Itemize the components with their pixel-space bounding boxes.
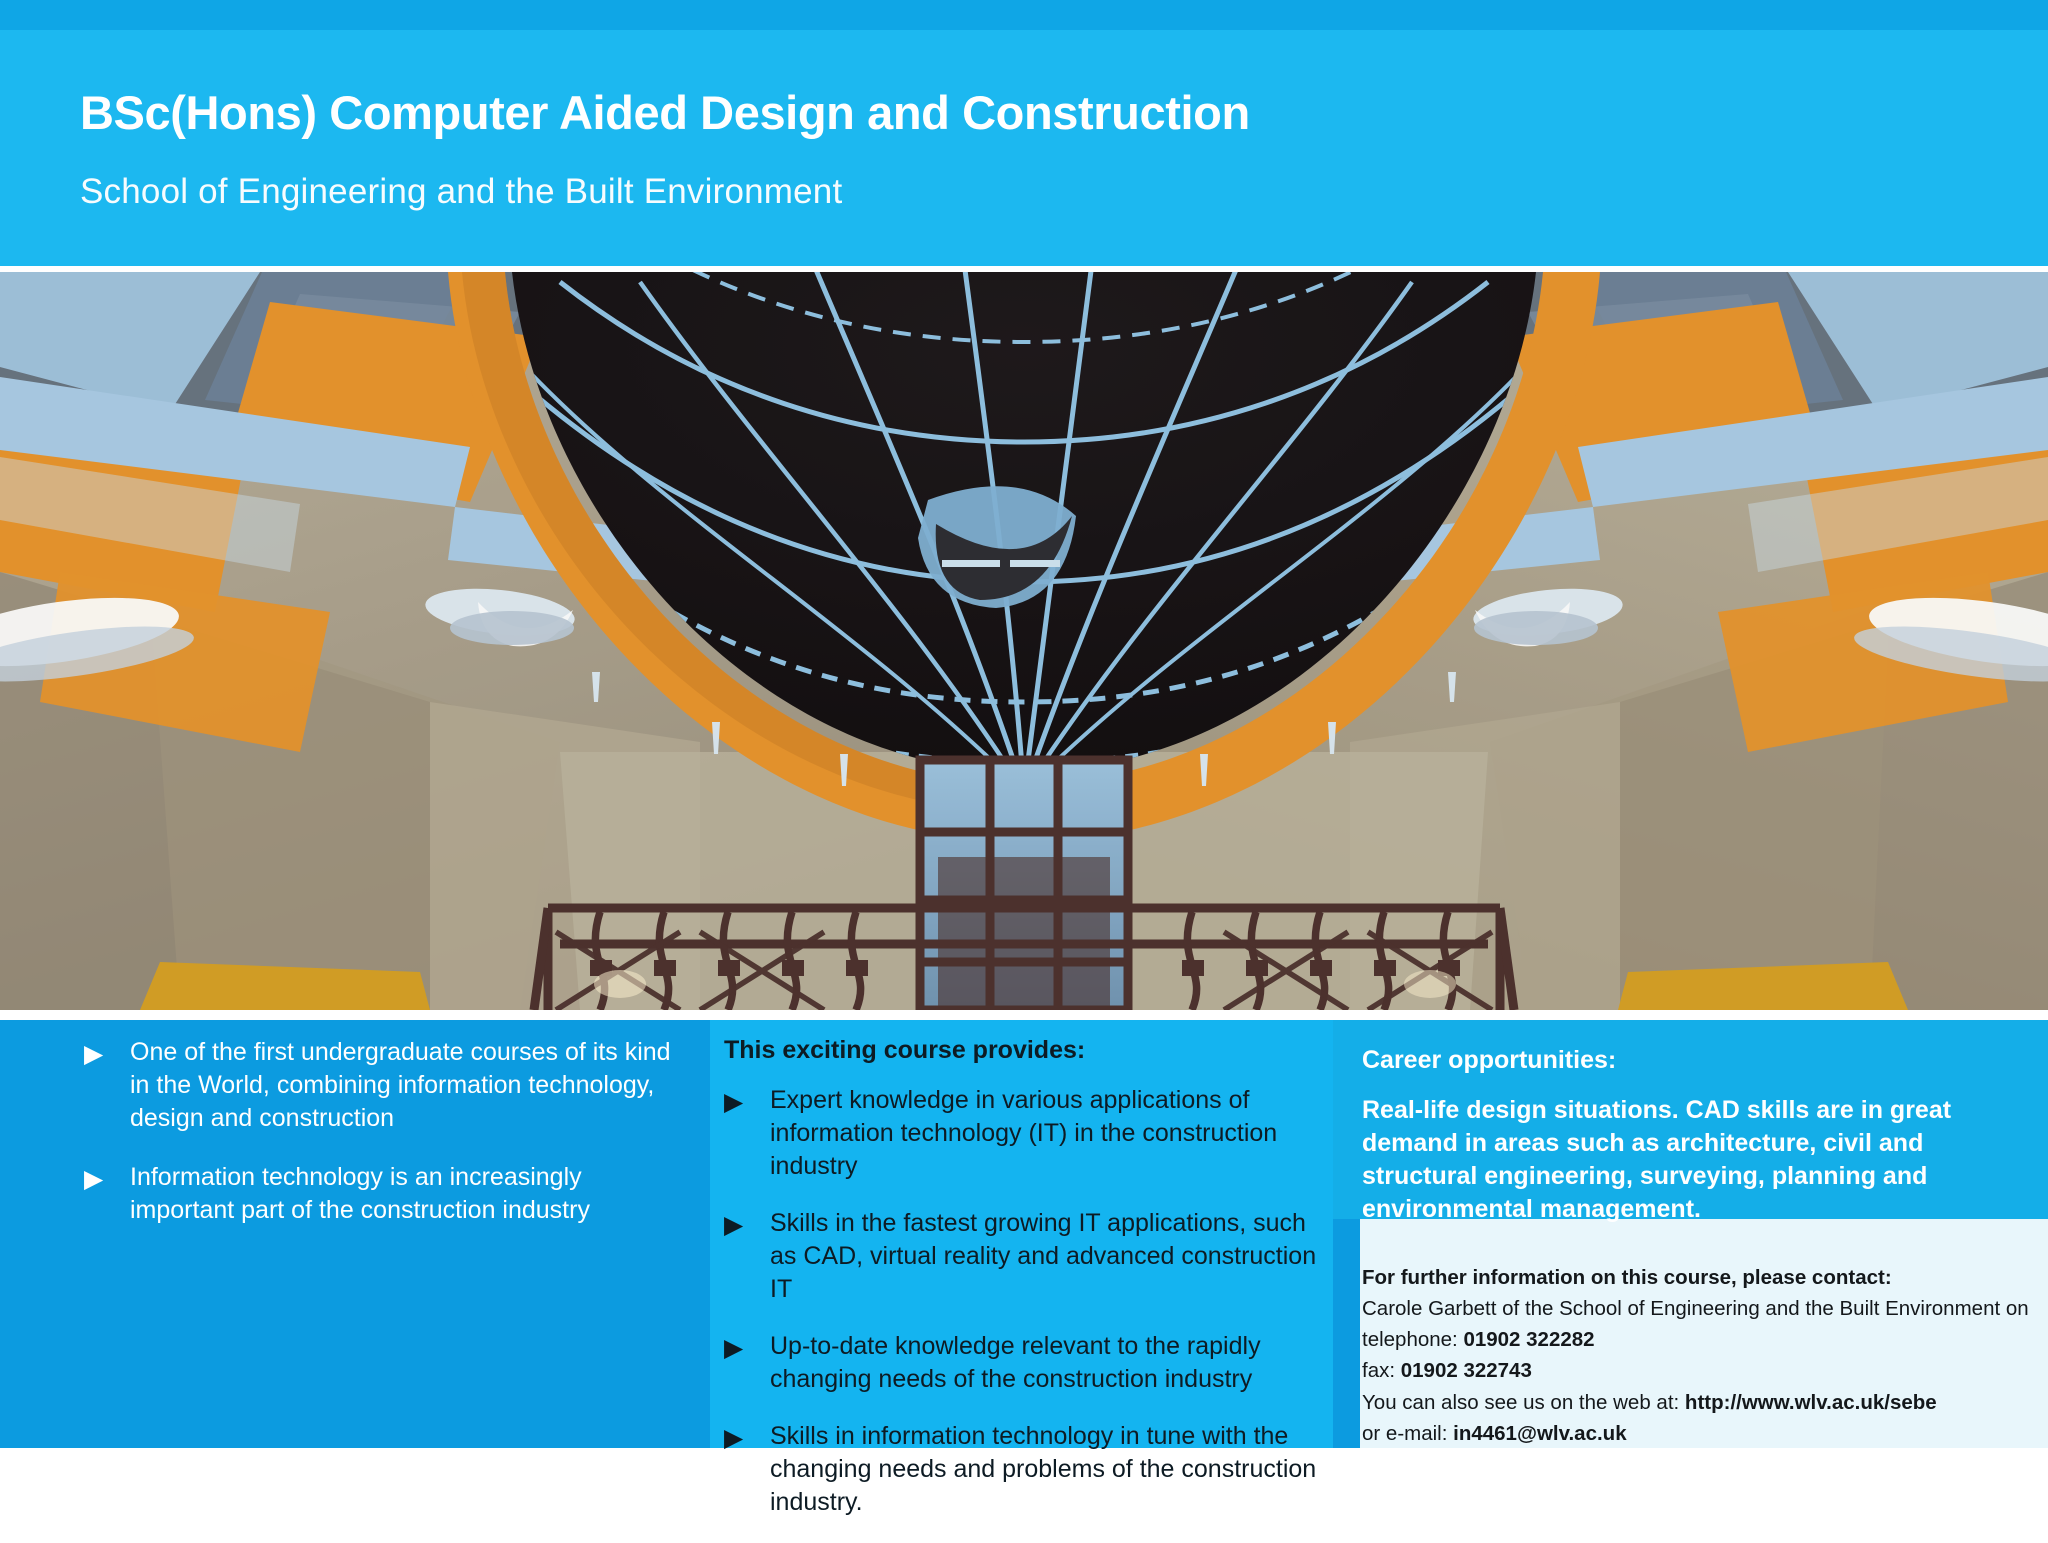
list-item: ▶ Skills in information technology in tu… [724,1420,1334,1519]
triangle-bullet-icon: ▶ [84,1036,130,1071]
career-opportunities-heading: Career opportunities: [1362,1046,2002,1075]
triangle-bullet-icon: ▶ [724,1084,770,1119]
fax-label: fax: [1362,1359,1401,1382]
email-link[interactable]: in4461@wlv.ac.uk [1453,1422,1626,1445]
list-item: ▶ Expert knowledge in various applicatio… [724,1084,1334,1183]
page-header: BSc(Hons) Computer Aided Design and Cons… [0,0,2048,266]
list-item-text: Skills in the fastest growing IT applica… [770,1207,1334,1306]
list-item: ▶ One of the first undergraduate courses… [84,1036,684,1135]
triangle-bullet-icon: ▶ [724,1420,770,1455]
telephone-label: telephone: [1362,1328,1463,1351]
list-item-text: Information technology is an increasingl… [130,1161,684,1227]
website-link[interactable]: http://www.wlv.ac.uk/sebe [1685,1391,1937,1414]
left-bullet-list: ▶ One of the first undergraduate courses… [84,1036,684,1253]
contact-telephone-row: telephone: 01902 322282 [1362,1324,2022,1355]
career-opportunities-text: Real-life design situations. CAD skills … [1362,1094,1982,1226]
triangle-bullet-icon: ▶ [724,1330,770,1365]
list-item-text: One of the first undergraduate courses o… [130,1036,684,1135]
contact-web-row: You can also see us on the web at: http:… [1362,1387,2022,1418]
course-provides-heading: This exciting course provides: [724,1036,1324,1065]
contact-heading: For further information on this course, … [1362,1262,2022,1293]
contact-name-line: Carole Garbett of the School of Engineer… [1362,1293,2022,1324]
list-item-text: Up-to-date knowledge relevant to the rap… [770,1330,1334,1396]
fax-value: 01902 322743 [1401,1359,1532,1382]
middle-bullet-list: ▶ Expert knowledge in various applicatio… [724,1084,1334,1543]
triangle-bullet-icon: ▶ [724,1207,770,1242]
list-item: ▶ Information technology is an increasin… [84,1161,684,1227]
contact-details: For further information on this course, … [1362,1262,2022,1449]
list-item: ▶ Up-to-date knowledge relevant to the r… [724,1330,1334,1396]
prospectus-page: BSc(Hons) Computer Aided Design and Cons… [0,0,2048,1448]
header-top-strip [0,0,2048,30]
web-label: You can also see us on the web at: [1362,1391,1685,1414]
contact-email-row: or e-mail: in4461@wlv.ac.uk [1362,1418,2022,1449]
email-label: or e-mail: [1362,1422,1453,1445]
page-title: BSc(Hons) Computer Aided Design and Cons… [80,85,1250,140]
page-subtitle: School of Engineering and the Built Envi… [80,172,842,212]
list-item: ▶ Skills in the fastest growing IT appli… [724,1207,1334,1306]
list-item-text: Skills in information technology in tune… [770,1420,1334,1519]
right-panel-left-rail [1333,1219,1360,1448]
atrium-dome-interior-photo [0,272,2048,1010]
telephone-value: 01902 322282 [1463,1328,1594,1351]
triangle-bullet-icon: ▶ [84,1161,130,1196]
contact-fax-row: fax: 01902 322743 [1362,1355,2022,1386]
photo-illustration [0,272,2048,1010]
list-item-text: Expert knowledge in various applications… [770,1084,1334,1183]
